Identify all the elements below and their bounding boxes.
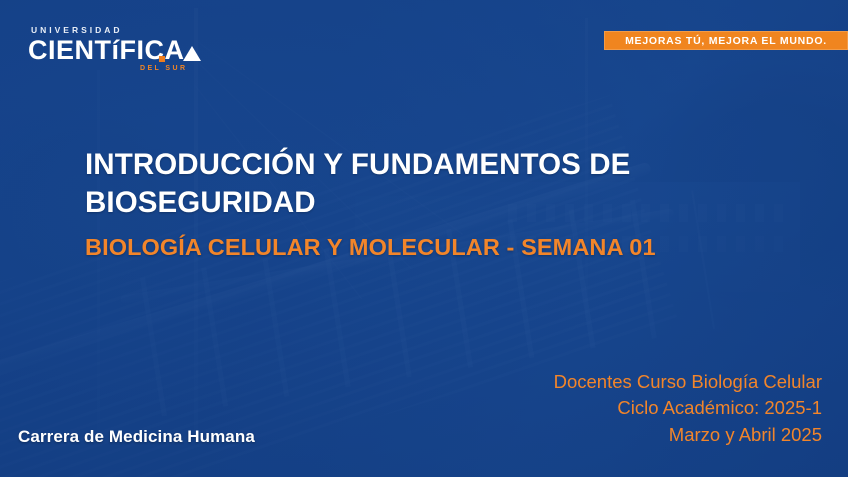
tagline-text: MEJORAS TÚ, MEJORA EL MUNDO. — [625, 35, 827, 47]
tagline-banner: MEJORAS TÚ, MEJORA EL MUNDO. — [604, 31, 848, 50]
logo-sub: DEL SUR — [140, 65, 187, 72]
university-logo: UNIVERSIDAD CIENTíFICA DEL SUR — [28, 26, 201, 63]
headline-block: INTRODUCCIÓN Y FUNDAMENTOS DE BIOSEGURID… — [85, 146, 785, 261]
logo-name-row: CIENTíFICA — [28, 38, 201, 64]
programme-label: Carrera de Medicina Humana — [18, 427, 255, 447]
page-title: INTRODUCCIÓN Y FUNDAMENTOS DE BIOSEGURID… — [85, 146, 785, 223]
meta-line-cycle: Ciclo Académico: 2025-1 — [554, 395, 822, 422]
logo-eyebrow: UNIVERSIDAD — [31, 26, 201, 35]
course-meta-block: Docentes Curso Biología Celular Ciclo Ac… — [554, 369, 822, 449]
orange-square-icon — [159, 56, 165, 62]
chevron-mark-icon — [183, 46, 201, 61]
meta-line-dates: Marzo y Abril 2025 — [554, 422, 822, 449]
presentation-title-slide: UNIVERSIDAD CIENTíFICA DEL SUR MEJORAS T… — [0, 0, 848, 477]
meta-line-instructors: Docentes Curso Biología Celular — [554, 369, 822, 396]
slide-content: UNIVERSIDAD CIENTíFICA DEL SUR MEJORAS T… — [0, 0, 848, 477]
page-subtitle: BIOLOGÍA CELULAR Y MOLECULAR - SEMANA 01 — [85, 233, 785, 261]
